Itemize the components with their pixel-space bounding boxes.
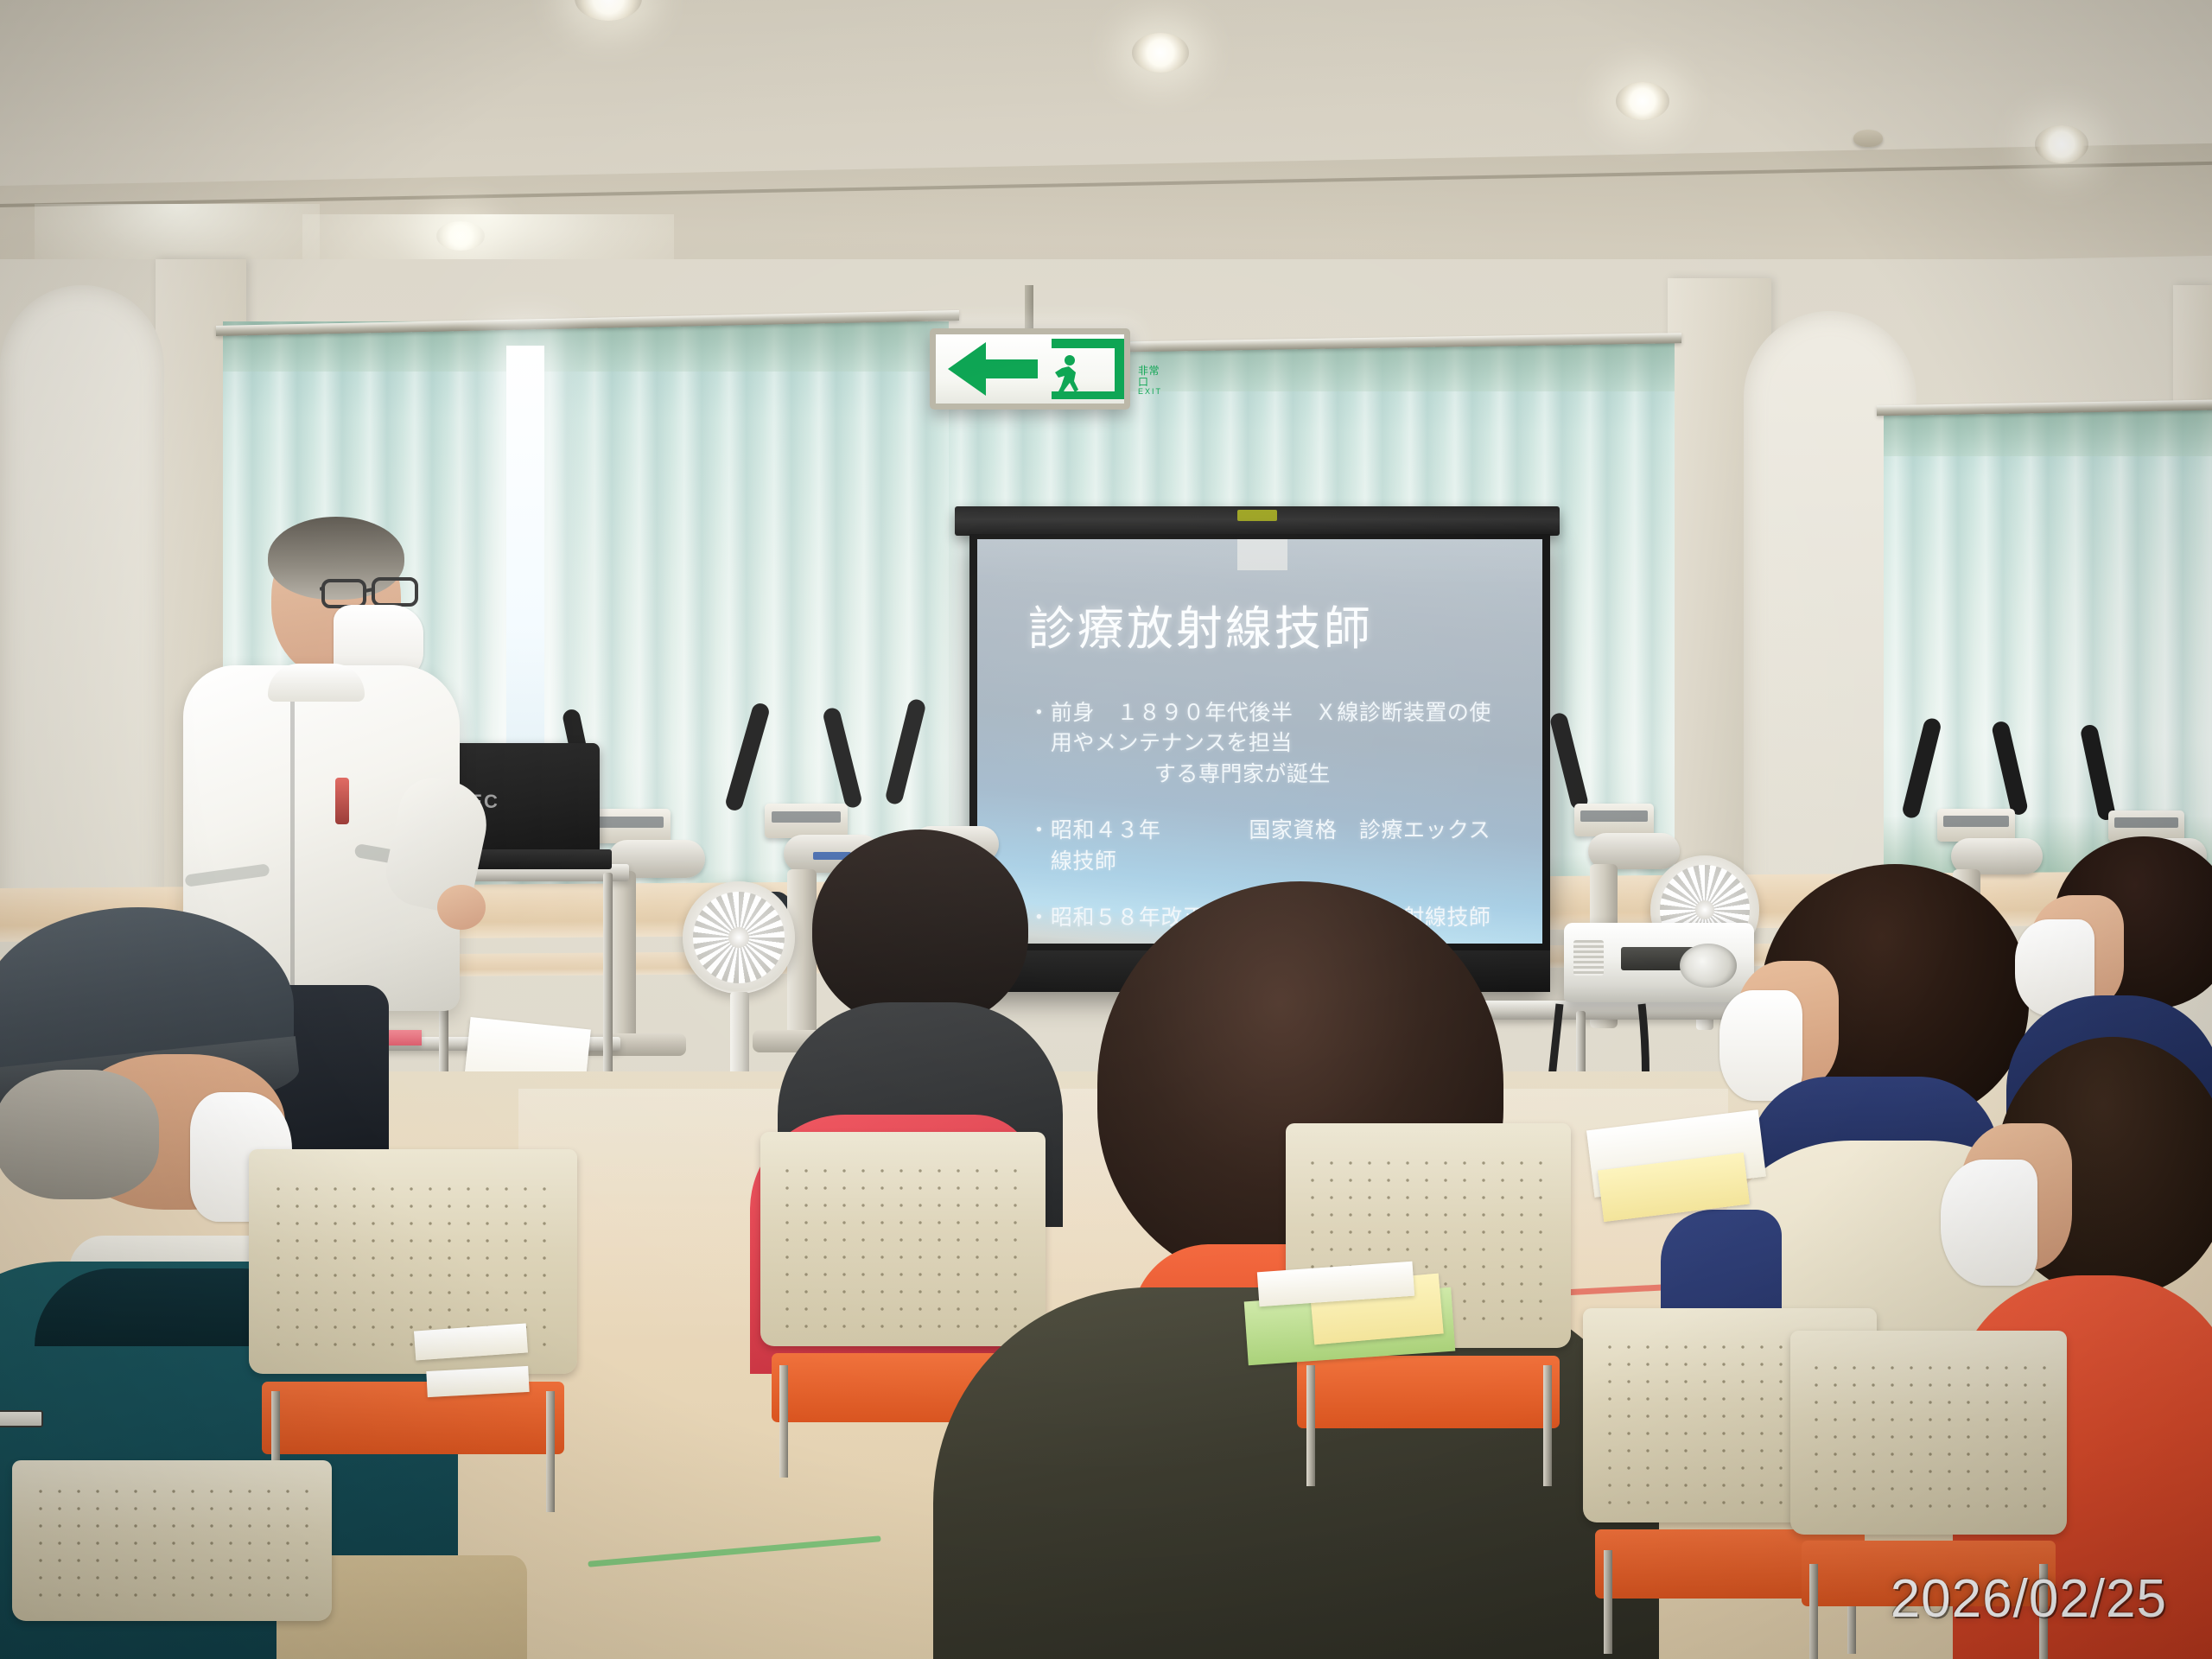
presenter-coat-collar bbox=[268, 664, 365, 702]
handout-paper bbox=[426, 1366, 529, 1397]
slide-bullet: 昭和４３年 国家資格 診療エックス線技師 bbox=[1028, 816, 1503, 877]
chair bbox=[12, 1460, 332, 1659]
camera-timestamp: 2026/02/25 bbox=[1891, 1568, 2167, 1630]
photograph: 非常口 EXIT 診療放射線技師 前身 １８９０年代後半 Ｘ線診断装置の使用やメ… bbox=[0, 0, 2212, 1659]
slide-bullet-text: 前身 １８９０年代後半 Ｘ線診断装置の使用やメンテナンスを担当 bbox=[1051, 701, 1491, 756]
exit-caption-en: EXIT bbox=[1138, 388, 1162, 396]
slide-title: 診療放射線技師 bbox=[1028, 590, 1503, 658]
ceiling-downlight bbox=[2035, 125, 2088, 163]
audience-face-mask bbox=[1941, 1160, 2037, 1286]
wall-arch-niche bbox=[0, 285, 164, 942]
slide-bullet-text: 昭和４３年 国家資格 診療エックス線技師 bbox=[1051, 818, 1491, 874]
ceiling-downlight bbox=[1132, 33, 1189, 73]
ceiling-downlight bbox=[436, 221, 485, 251]
audience-jacket-logo-tag bbox=[0, 1410, 43, 1427]
window-daylight bbox=[506, 346, 544, 812]
slide-bullet-continuation: する専門家が誕生 bbox=[1051, 760, 1503, 791]
ceiling-downlight bbox=[1616, 82, 1669, 120]
running-man-glyph bbox=[1048, 353, 1088, 402]
exit-caption-jp: 非常口 bbox=[1138, 365, 1162, 387]
exit-sign-caption: 非常口 EXIT bbox=[1138, 365, 1162, 396]
exit-sign: 非常口 EXIT bbox=[930, 328, 1130, 410]
projection-screen-case bbox=[955, 506, 1560, 536]
running-man-exit-icon bbox=[1052, 339, 1124, 399]
exit-sign-mount bbox=[1025, 285, 1033, 334]
presenter-pocket-pen bbox=[335, 778, 349, 824]
smoke-detector-icon bbox=[1853, 130, 1883, 147]
audience-face-mask bbox=[1719, 990, 1802, 1101]
audience-hair-gray bbox=[0, 1070, 159, 1199]
slide-bullet: 前身 １８９０年代後半 Ｘ線診断装置の使用やメンテナンスを担当 する専門家が誕生 bbox=[1028, 698, 1503, 791]
exit-arrow-left-icon bbox=[948, 342, 1038, 396]
screen-case-knob bbox=[1237, 510, 1277, 521]
